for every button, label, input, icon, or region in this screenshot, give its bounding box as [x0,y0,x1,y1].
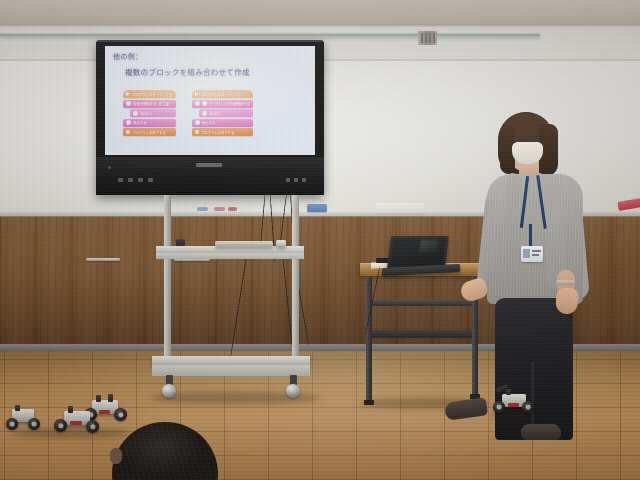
block-wait-left: 2秒待つ [130,109,176,117]
cabinet-pull-1 [86,258,120,261]
block-end-right: プログラムを終了する [192,128,253,136]
student-ear [110,448,122,464]
play-icon [126,92,130,96]
cart-post-right [292,195,299,371]
block-motion-right: モータ1と2で前進開始する [192,100,253,108]
cart-keyboard[interactable] [215,241,273,247]
classroom-photo-scene: 他の例： 複数のブロックを組み合わせて作成 プログラムスタートしたら 前進を開始… [0,0,640,480]
laptop-screen-glare [419,240,438,252]
ceiling [0,0,640,26]
gear-icon [195,120,200,125]
student-head [112,418,218,480]
block-stack-left: プログラムスタートしたら 前進を開始する 最大 2秒待つ 停止する [123,90,176,138]
student-hair-texture [112,422,218,480]
block-wait-right: 3秒待つ [199,109,253,117]
display-screen: 他の例： 複数のブロックを組み合わせて作成 プログラムスタートしたら 前進を開始… [105,46,315,155]
hand-right [555,287,580,315]
shoe-right [521,424,561,440]
face-mask [512,142,543,164]
cart-lower-shelf-edge [152,365,310,376]
stop-icon [126,130,130,134]
shoe-left [444,397,488,421]
robot-right-shadow [490,412,540,420]
block-label: プログラムスタートしたら [132,92,173,97]
block-label: 3秒待つ [209,111,221,116]
block-hat-right: プログラムスタートしたら [192,90,253,98]
laptop-table-leg-left [366,276,372,402]
slide-title: 他の例： [113,52,307,62]
gear-icon-2 [202,101,207,106]
clock-icon [133,111,138,116]
lanyard-drop [529,224,532,248]
block-stop-right: 停止する [192,119,253,127]
block-label: プログラムスタートしたら [201,92,242,97]
clock-icon [202,111,207,116]
block-label: プログラムを終了する [201,130,235,135]
block-end-left: プログラムを終了する [123,128,176,136]
cart-upper-shelf-edge [156,253,304,259]
block-motion-left: 前進を開始する 最大 [123,100,176,108]
block-label: 前進を開始する [133,101,157,106]
display-button-row-right[interactable] [286,178,306,182]
display-brand-plate [196,163,222,167]
block-label: 停止する [133,120,147,125]
block-label: モータ1と2で前進開始する [209,101,250,106]
play-icon [195,92,199,96]
gear-icon [126,101,131,106]
block-programs: プログラムスタートしたら 前進を開始する 最大 2秒待つ 停止する [123,90,253,138]
gear-icon [195,101,200,106]
display-button-row-left[interactable] [118,178,153,182]
block-pill: 最大 [159,102,169,106]
slide-subtitle: 複数のブロックを組み合わせて作成 [125,67,307,78]
block-label: 停止する [202,120,216,125]
wrist-watch [556,280,575,285]
cart-remote[interactable] [176,239,185,246]
presentation-slide: 他の例： 複数のブロックを組み合わせて作成 プログラムスタートしたら 前進を開始… [105,46,315,155]
block-label: 2秒待つ [140,111,152,116]
block-hat-left: プログラムスタートしたら [123,90,176,98]
display-bezel-highlight [96,40,324,42]
id-badge [521,246,543,262]
block-stop-left: 停止する [123,119,176,127]
hand-left [459,276,490,303]
gear-icon [126,120,131,125]
cart-small-item [276,240,286,247]
cart-post-left [164,195,171,375]
stop-icon [195,130,199,134]
block-label: プログラムを終了する [132,130,166,135]
presenter [443,112,593,432]
block-stack-right: プログラムスタートしたら モータ1と2で前進開始する 3秒待つ 停止する [192,90,253,138]
power-led-icon [108,166,111,169]
cart-shadow [150,392,320,404]
